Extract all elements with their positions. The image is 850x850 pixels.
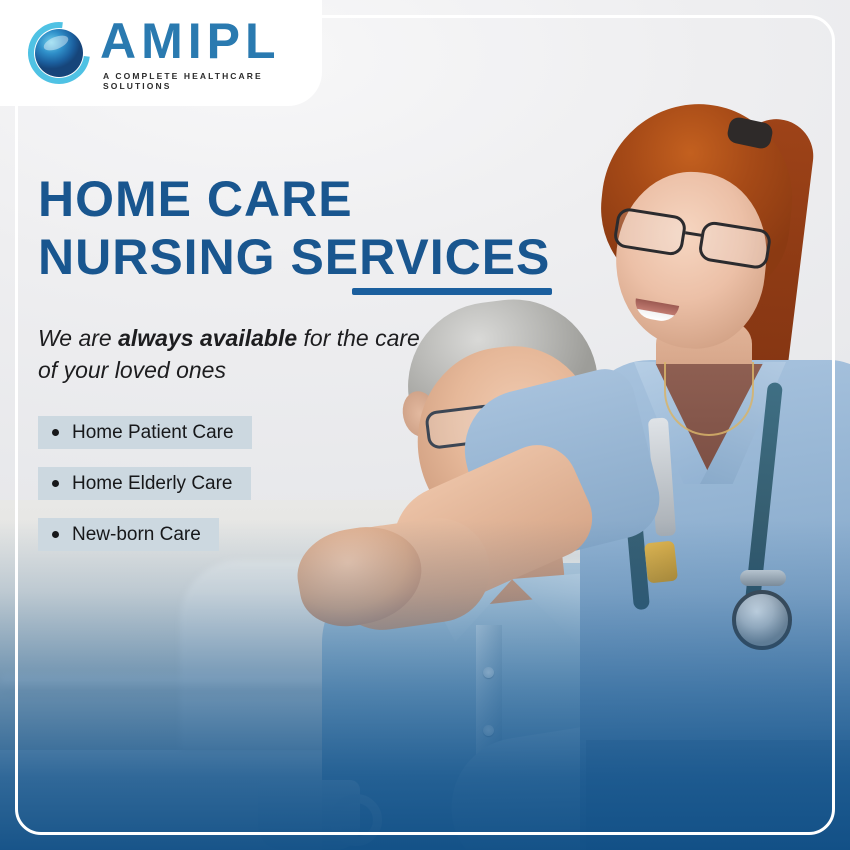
list-item[interactable]: Home Patient Care — [38, 416, 252, 449]
list-item[interactable]: Home Elderly Care — [38, 467, 251, 500]
poster-canvas: AMIPL A COMPLETE HEALTHCARE SOLUTIONS HO… — [0, 0, 850, 850]
subheadline: We are always available for the care of … — [38, 322, 428, 386]
copy-block: HOME CARE NURSING SERVICES We are always… — [38, 170, 550, 569]
subheadline-emphasis: always available — [118, 325, 297, 351]
subheadline-part-1: We are — [38, 325, 118, 351]
bullet-icon — [52, 531, 59, 538]
headline-line-2: NURSING SERVICES — [38, 228, 550, 286]
brand-tagline: A COMPLETE HEALTHCARE SOLUTIONS — [103, 71, 322, 91]
brand-name: AMIPL — [100, 16, 322, 66]
blue-gradient-overlay — [0, 520, 850, 850]
service-list: Home Patient Care Home Elderly Care New-… — [38, 416, 550, 551]
brand-logo[interactable]: AMIPL A COMPLETE HEALTHCARE SOLUTIONS — [0, 0, 322, 106]
bullet-icon — [52, 429, 59, 436]
brand-lockup: AMIPL A COMPLETE HEALTHCARE SOLUTIONS — [100, 16, 322, 91]
bullet-icon — [52, 480, 59, 487]
headline-line-1: HOME CARE — [38, 170, 550, 228]
service-label: Home Patient Care — [72, 422, 234, 444]
globe-sphere-icon — [28, 22, 90, 84]
list-item[interactable]: New-born Care — [38, 518, 219, 551]
service-label: Home Elderly Care — [72, 473, 233, 495]
page-title: HOME CARE NURSING SERVICES — [38, 170, 550, 286]
service-label: New-born Care — [72, 524, 201, 546]
headline-underline-accent — [352, 288, 552, 295]
